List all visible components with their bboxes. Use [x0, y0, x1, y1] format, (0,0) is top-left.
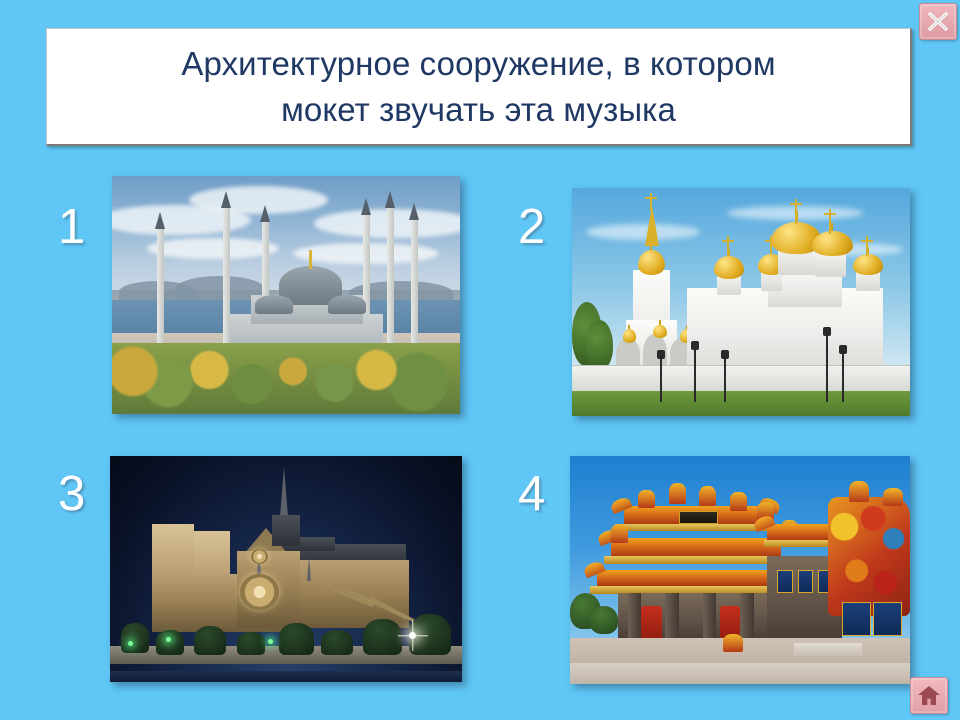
- close-icon: [927, 11, 949, 32]
- option-number-1: 1: [58, 203, 85, 252]
- option-number-2: 2: [518, 203, 545, 252]
- home-icon: [917, 684, 941, 707]
- page-title: Архитектурное сооружение, в котором моке…: [163, 41, 793, 132]
- option-number-4: 4: [518, 470, 545, 519]
- home-button[interactable]: [910, 677, 948, 714]
- slide-canvas: Архитектурное сооружение, в котором моке…: [0, 0, 960, 720]
- close-button[interactable]: [919, 3, 957, 40]
- option-number-3: 3: [58, 470, 85, 519]
- photo-chinese-temple[interactable]: [570, 456, 910, 684]
- photo-dormition-cathedral-vladimir[interactable]: [572, 188, 910, 416]
- photo-notre-dame-paris[interactable]: [110, 456, 462, 682]
- photo-blue-mosque-istanbul[interactable]: [112, 176, 460, 414]
- corner-artifact: [0, 0, 8, 3]
- title-box: Архитектурное сооружение, в котором моке…: [46, 28, 912, 146]
